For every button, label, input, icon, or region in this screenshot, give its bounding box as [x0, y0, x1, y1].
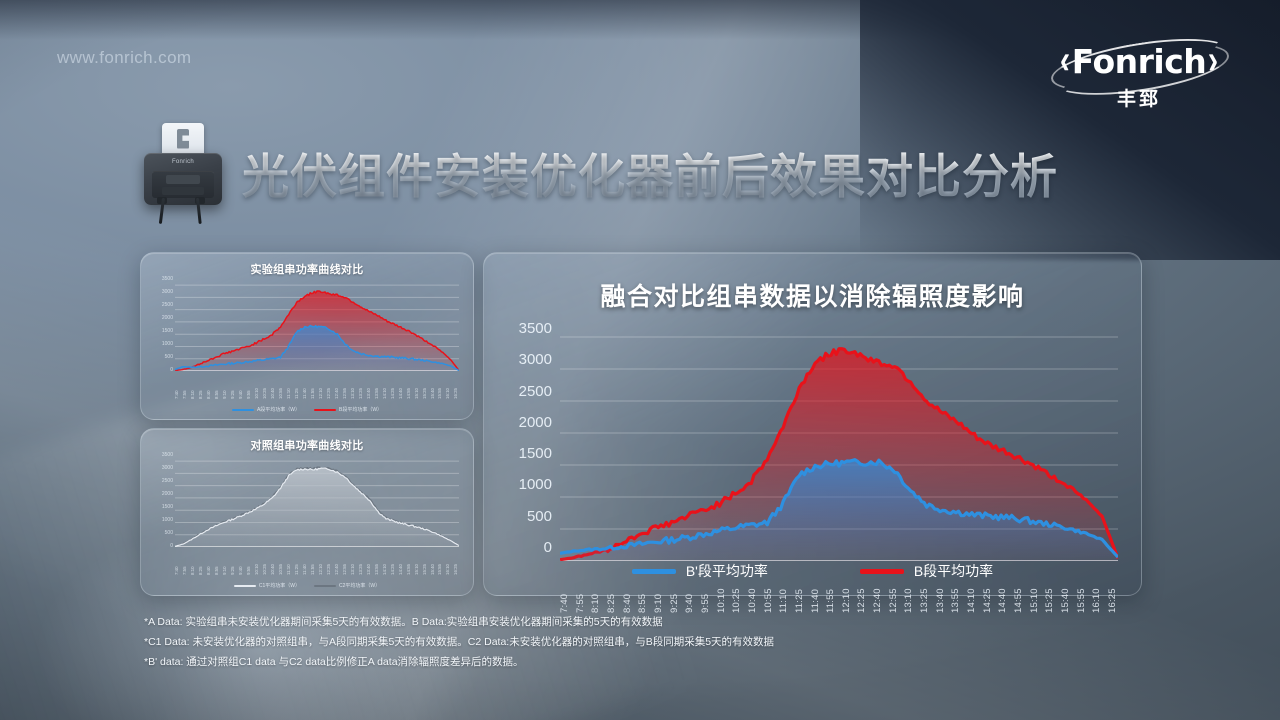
x-tick-label: 14:40 [399, 373, 403, 399]
x-tick-label: 16:25 [454, 549, 458, 575]
x-tick-label: 14:10 [383, 373, 387, 399]
title-row: Fonrich 光伏组件安装优化器前后效果对比分析 [140, 120, 1140, 225]
main-chart-legend: B'段平均功率 B段平均功率 [484, 561, 1141, 581]
x-tick-label: 13:55 [375, 549, 379, 575]
x-tick-label: 11:10 [287, 373, 291, 399]
x-tick-label: 7:40 [175, 549, 179, 575]
y-tick-label: 1000 [143, 518, 173, 523]
x-tick-label: 10:40 [271, 373, 275, 399]
x-tick-label: 12:55 [343, 373, 347, 399]
small-2-area-0 [175, 468, 459, 547]
footnote-line-3: *B' data: 通过对照组C1 data 与C2 data比例修正A dat… [144, 652, 1004, 672]
y-tick-label: 3000 [504, 352, 552, 367]
legend-item-b-prime: B'段平均功率 [632, 561, 768, 581]
x-tick-label: 12:10 [319, 549, 323, 575]
x-tick-label: 9:25 [231, 549, 235, 575]
x-tick-label: 15:55 [438, 549, 442, 575]
x-tick-label: 9:10 [223, 549, 227, 575]
x-tick-label: 13:25 [359, 549, 363, 575]
legend-item-a: A段平均功率（W） [232, 406, 300, 413]
x-tick-label: 15:55 [438, 373, 442, 399]
x-tick-label: 9:10 [223, 373, 227, 399]
small-chart-1-plot [175, 279, 459, 371]
small-chart-1-y-axis: 3500300025002000150010005000 [143, 277, 173, 373]
x-tick-label: 8:55 [215, 373, 219, 399]
device-brand-label: Fonrich [172, 159, 194, 165]
device-body: Fonrich [144, 153, 222, 205]
x-tick-label: 15:10 [415, 373, 419, 399]
brand-logo-wordmark: ‹ Fonrich › [1046, 39, 1232, 83]
x-tick-label: 8:10 [191, 373, 195, 399]
legend-item-c1: C1平均功率（W） [234, 582, 300, 589]
x-tick-label: 13:10 [351, 373, 355, 399]
x-tick-label: 12:25 [327, 549, 331, 575]
page-title: 光伏组件安装优化器前后效果对比分析 [242, 138, 1058, 207]
footnote-line-1: *A Data: 实验组串未安装优化器期间采集5天的有效数据。B Data:实验… [144, 612, 1004, 632]
panel-control-group: 对照组串功率曲线对比 3500300025002000150010005000 … [140, 428, 474, 596]
x-tick-label: 16:10 [446, 549, 450, 575]
x-tick-label: 8:25 [199, 373, 203, 399]
y-tick-label: 2500 [143, 479, 173, 484]
x-tick-label: 15:25 [423, 549, 427, 575]
bracket-left-icon: ‹ [1059, 41, 1071, 82]
y-tick-label: 500 [143, 355, 173, 360]
x-tick-label: 8:40 [207, 373, 211, 399]
x-tick-label: 13:10 [351, 549, 355, 575]
x-tick-label: 15:25 [423, 373, 427, 399]
footnote-line-2: *C1 Data: 未安装优化器的对照组串，与A段同期采集5天的有效数据。C2 … [144, 632, 1004, 652]
small-chart-1-x-axis: 7:407:558:108:258:408:559:109:259:409:55… [175, 373, 459, 399]
y-tick-label: 1500 [504, 446, 552, 461]
x-tick-label: 7:55 [183, 549, 187, 575]
small-chart-2-legend: C1平均功率（W） C2平均功率（W） [141, 582, 473, 589]
brand-name-cn: 丰郅 [1117, 84, 1161, 111]
x-tick-label: 13:40 [367, 549, 371, 575]
x-tick-label: 10:40 [271, 549, 275, 575]
x-tick-label: 14:40 [399, 549, 403, 575]
y-tick-label: 2500 [504, 384, 552, 399]
x-tick-label: 11:55 [311, 549, 315, 575]
panel-experiment-group: 实验组串功率曲线对比 3500300025002000150010005000 … [140, 252, 474, 420]
device-slot [152, 171, 214, 198]
y-tick-label: 1500 [143, 329, 173, 334]
x-tick-label: 15:40 [431, 373, 435, 399]
y-tick-label: 2000 [143, 492, 173, 497]
small-chart-1-title: 实验组串功率曲线对比 [141, 261, 473, 277]
x-tick-label: 8:10 [191, 549, 195, 575]
site-watermark: www.fonrich.com [57, 48, 191, 68]
y-tick-label: 3500 [143, 453, 173, 458]
x-tick-label: 9:40 [239, 549, 243, 575]
main-chart-title: 融合对比组串数据以消除辐照度影响 [484, 277, 1141, 313]
x-tick-label: 9:55 [247, 373, 251, 399]
x-tick-label: 15:10 [415, 549, 419, 575]
x-tick-label: 11:25 [295, 549, 299, 575]
legend-item-b: B段平均功率 [860, 561, 993, 581]
y-tick-label: 0 [143, 368, 173, 373]
y-tick-label: 2000 [143, 316, 173, 321]
main-chart-plot [560, 321, 1118, 561]
x-tick-label: 11:10 [287, 549, 291, 575]
y-tick-label: 0 [143, 544, 173, 549]
small-chart-2-title: 对照组串功率曲线对比 [141, 437, 473, 453]
footnotes: *A Data: 实验组串未安装优化器期间采集5天的有效数据。B Data:实验… [144, 612, 1004, 672]
x-tick-label: 11:25 [295, 373, 299, 399]
bracket-right-icon: › [1207, 41, 1219, 82]
x-tick-label: 12:55 [343, 549, 347, 575]
x-tick-label: 8:40 [207, 549, 211, 575]
y-tick-label: 1000 [143, 342, 173, 347]
small-1-svg [175, 279, 459, 371]
x-tick-label: 16:10 [446, 373, 450, 399]
x-tick-label: 9:40 [239, 373, 243, 399]
x-tick-label: 9:25 [231, 373, 235, 399]
x-tick-label: 7:55 [183, 373, 187, 399]
y-tick-label: 500 [504, 509, 552, 524]
x-tick-label: 12:40 [335, 549, 339, 575]
x-tick-label: 13:40 [367, 373, 371, 399]
x-tick-label: 11:40 [303, 373, 307, 399]
y-tick-label: 3500 [143, 277, 173, 282]
x-tick-label: 15:40 [431, 549, 435, 575]
small-chart-1-legend: A段平均功率（W） B段平均功率（W） [141, 406, 473, 413]
y-tick-label: 1500 [143, 505, 173, 510]
x-tick-label: 11:40 [303, 549, 307, 575]
x-tick-label: 10:10 [255, 373, 259, 399]
main-chart-y-axis: 3500300025002000150010005000 [504, 321, 552, 555]
x-tick-label: 7:40 [175, 373, 179, 399]
x-tick-label: 12:25 [327, 373, 331, 399]
small-chart-2-x-axis: 7:407:558:108:258:408:559:109:259:409:55… [175, 549, 459, 575]
brand-logo: ‹ Fonrich › 丰郅 [1046, 36, 1232, 114]
optimizer-device-image: Fonrich [140, 123, 226, 223]
x-tick-label: 10:55 [279, 549, 283, 575]
x-tick-label: 14:55 [407, 549, 411, 575]
x-tick-label: 8:25 [199, 549, 203, 575]
x-tick-label: 9:55 [247, 549, 251, 575]
y-tick-label: 0 [504, 540, 552, 555]
x-tick-label: 10:55 [279, 373, 283, 399]
y-tick-label: 3000 [143, 466, 173, 471]
legend-item-b: B段平均功率（W） [314, 406, 382, 413]
x-tick-label: 10:25 [263, 549, 267, 575]
legend-item-c2: C2平均功率（W） [314, 582, 380, 589]
x-tick-label: 14:25 [391, 373, 395, 399]
x-tick-label: 14:10 [383, 549, 387, 575]
x-tick-label: 14:25 [391, 549, 395, 575]
small-2-svg [175, 455, 459, 547]
x-tick-label: 12:40 [335, 373, 339, 399]
x-tick-label: 10:10 [255, 549, 259, 575]
x-tick-label: 8:55 [215, 549, 219, 575]
small-chart-2-y-axis: 3500300025002000150010005000 [143, 453, 173, 549]
x-tick-label: 13:25 [359, 373, 363, 399]
main-svg [560, 321, 1118, 561]
x-tick-label: 16:25 [454, 373, 458, 399]
x-tick-label: 10:25 [263, 373, 267, 399]
panel-merged-comparison: 融合对比组串数据以消除辐照度影响 35003000250020001500100… [483, 252, 1142, 596]
x-tick-label: 13:55 [375, 373, 379, 399]
slide-canvas: www.fonrich.com ‹ Fonrich › 丰郅 Fonrich 光… [0, 0, 1280, 720]
y-tick-label: 1000 [504, 477, 552, 492]
brand-name: Fonrich [1072, 42, 1207, 81]
y-tick-label: 500 [143, 531, 173, 536]
x-tick-label: 11:55 [311, 373, 315, 399]
y-tick-label: 2000 [504, 415, 552, 430]
y-tick-label: 3000 [143, 290, 173, 295]
y-tick-label: 3500 [504, 321, 552, 336]
small-chart-2-plot [175, 455, 459, 547]
x-tick-label: 14:55 [407, 373, 411, 399]
y-tick-label: 2500 [143, 303, 173, 308]
x-tick-label: 12:10 [319, 373, 323, 399]
